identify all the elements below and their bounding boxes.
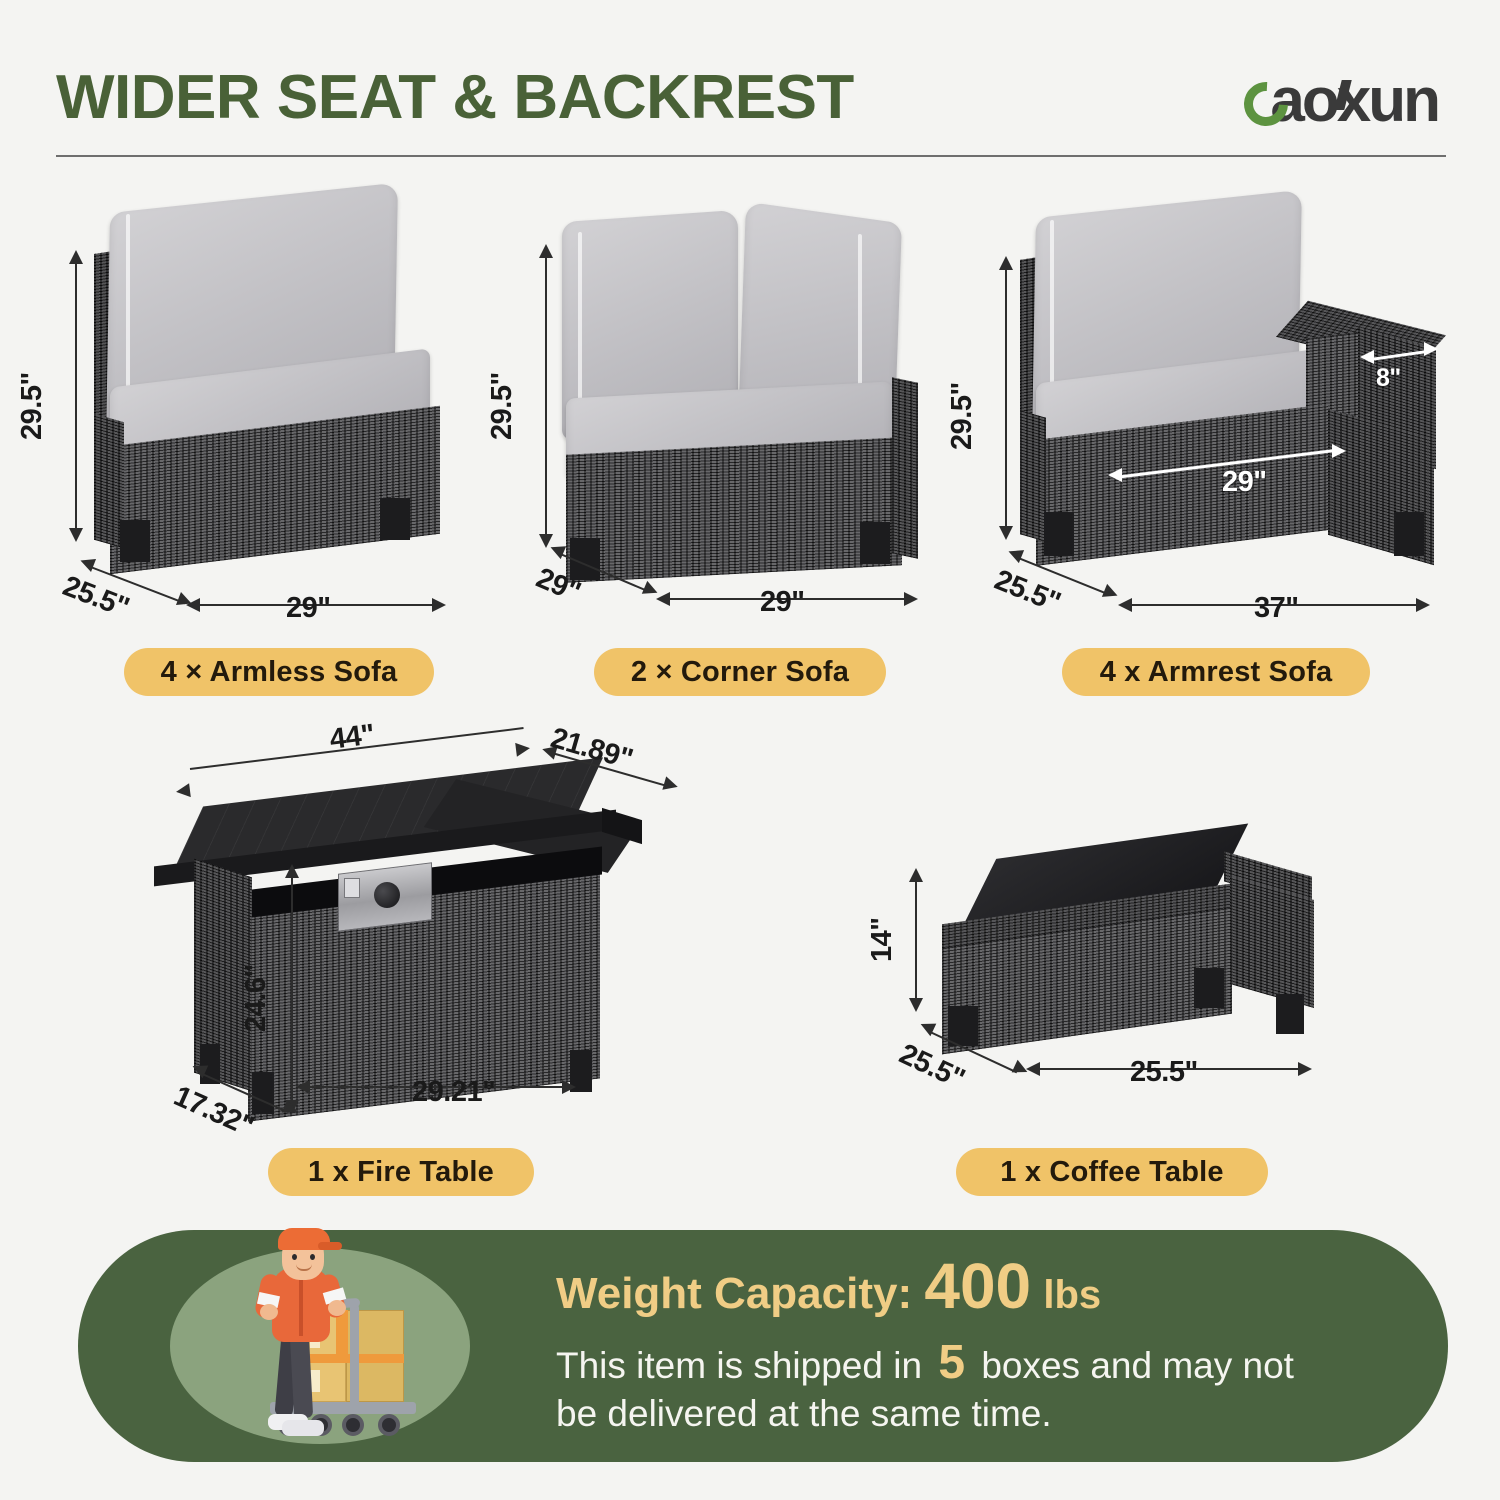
badge-fire-table: 1 x Fire Table — [268, 1148, 534, 1196]
shipping-prefix: This item is shipped in — [556, 1345, 922, 1386]
armless-width-arrow-right — [432, 598, 446, 612]
armrest-base-left-side — [1020, 410, 1046, 541]
badge-armrest-sofa: 4 x Armrest Sofa — [1062, 648, 1370, 696]
product-armless-sofa — [80, 190, 480, 600]
delivery-person-illustration — [186, 1238, 446, 1458]
armrest-arm-arrow-right — [1424, 342, 1438, 356]
corner-height-arrow-top — [539, 244, 553, 258]
coffee-height-arrow-top — [909, 868, 923, 882]
fire-top-length-label: 44" — [328, 719, 376, 757]
brand-logo: aoxun — [1178, 66, 1438, 136]
person-eye-right — [310, 1254, 315, 1260]
armrest-width-arrow-left — [1118, 598, 1132, 612]
corner-base-side-right — [892, 377, 918, 559]
badge-coffee-table: 1 x Coffee Table — [956, 1148, 1268, 1196]
armless-width-label: 29" — [286, 592, 331, 625]
armrest-seatwidth-arrow-left — [1108, 468, 1122, 482]
coffee-height-arrow-bottom — [909, 998, 923, 1012]
coffee-table-body-right — [1230, 876, 1314, 1008]
product-armrest-sofa — [1010, 190, 1450, 600]
fire-top-length-arrow-right — [515, 741, 531, 757]
armrest-back-piping — [1050, 220, 1054, 402]
person-hand-right — [328, 1300, 346, 1316]
armrest-height-arrow-top — [999, 256, 1013, 270]
fire-table-ignition-button — [344, 878, 360, 898]
fire-base-length-arrow-left — [296, 1080, 310, 1094]
banner-text-block: Weight Capacity: 400 lbs This item is sh… — [556, 1258, 1436, 1438]
corner-base-front — [566, 437, 902, 583]
badge-corner-sofa: 2 × Corner Sofa — [594, 648, 886, 696]
corner-leg-right — [860, 522, 890, 564]
hand-truck-wheel-4 — [378, 1414, 400, 1436]
armless-back-piping — [126, 214, 130, 410]
fire-table-leg-front-left — [252, 1072, 274, 1114]
coffee-table-leg-front-left — [948, 1006, 978, 1046]
armrest-leg-right — [1394, 512, 1424, 556]
corner-width-arrow-left — [656, 592, 670, 606]
armrest-height-label: 29.5" — [946, 382, 979, 450]
coffee-width-label: 25.5" — [1130, 1056, 1198, 1089]
page-header: WIDER SEAT & BACKREST aoxun — [0, 0, 1500, 170]
page-title: WIDER SEAT & BACKREST — [56, 62, 854, 133]
coffee-width-arrow-left — [1026, 1062, 1040, 1076]
weight-capacity-unit: lbs — [1043, 1273, 1101, 1317]
fire-height-line — [291, 876, 293, 1104]
armrest-width-arrow-right — [1416, 598, 1430, 612]
armless-height-arrow-bottom — [69, 528, 83, 542]
product-corner-sofa — [548, 190, 958, 600]
shipping-box-count: 5 — [932, 1336, 971, 1389]
armless-width-arrow-left — [186, 598, 200, 612]
fire-height-arrow-top — [285, 864, 299, 878]
armrest-arm-arrow-left — [1360, 350, 1374, 364]
coffee-height-label: 14" — [866, 917, 899, 962]
weight-capacity-line: Weight Capacity: 400 lbs — [556, 1258, 1436, 1323]
armless-height-label: 29.5" — [16, 372, 49, 440]
corner-left-piping — [578, 232, 582, 418]
fire-top-length-arrow-left — [175, 783, 191, 799]
brand-logo-text: aoxun — [1270, 66, 1438, 136]
header-divider — [56, 155, 1446, 157]
armrest-leg-left — [1044, 512, 1074, 556]
fire-base-length-label: 29.21" — [412, 1076, 495, 1109]
corner-width-label: 29" — [760, 586, 805, 619]
shipping-info-line: This item is shipped in 5 boxes and may … — [556, 1339, 1436, 1438]
fire-base-length-arrow-right — [562, 1080, 576, 1094]
person-jacket-zipper — [299, 1272, 303, 1336]
weight-capacity-label: Weight Capacity: — [556, 1269, 912, 1318]
armrest-seatwidth-label: 29" — [1222, 466, 1267, 499]
coffee-height-line — [915, 880, 917, 1002]
person-eye-left — [292, 1254, 297, 1260]
armrest-width-label: 37" — [1254, 592, 1299, 625]
armrest-height-line — [1005, 268, 1007, 530]
armless-leg-right — [380, 498, 410, 540]
coffee-width-arrow-right — [1298, 1062, 1312, 1076]
armrest-arm-label: 8" — [1376, 364, 1401, 393]
corner-width-arrow-right — [904, 592, 918, 606]
shipping-line-two: be delivered at the same time. — [556, 1393, 1052, 1434]
person-cap-brim-icon — [318, 1242, 342, 1250]
armrest-height-arrow-bottom — [999, 526, 1013, 540]
corner-height-line — [545, 256, 547, 538]
weight-capacity-value: 400 — [924, 1250, 1031, 1322]
fire-height-label: 24.6" — [240, 964, 273, 1032]
badge-armless-sofa: 4 × Armless Sofa — [124, 648, 434, 696]
person-shoe-front — [282, 1420, 324, 1436]
hand-truck-wheel-3 — [342, 1414, 364, 1436]
hand-truck-handle-post — [350, 1304, 359, 1406]
coffee-table-leg-back-right — [1276, 994, 1304, 1034]
armless-height-line — [75, 262, 77, 532]
armrest-seatwidth-arrow-right — [1332, 444, 1346, 458]
corner-height-label: 29.5" — [486, 372, 519, 440]
shipping-suffix: boxes and may not — [981, 1345, 1294, 1386]
person-hand-left — [260, 1304, 278, 1320]
armless-height-arrow-top — [69, 250, 83, 264]
fire-table-control-knob — [374, 882, 400, 908]
armless-leg-left — [120, 520, 150, 562]
coffee-table-leg-front-right — [1194, 968, 1224, 1008]
product-coffee-table — [900, 840, 1320, 1100]
